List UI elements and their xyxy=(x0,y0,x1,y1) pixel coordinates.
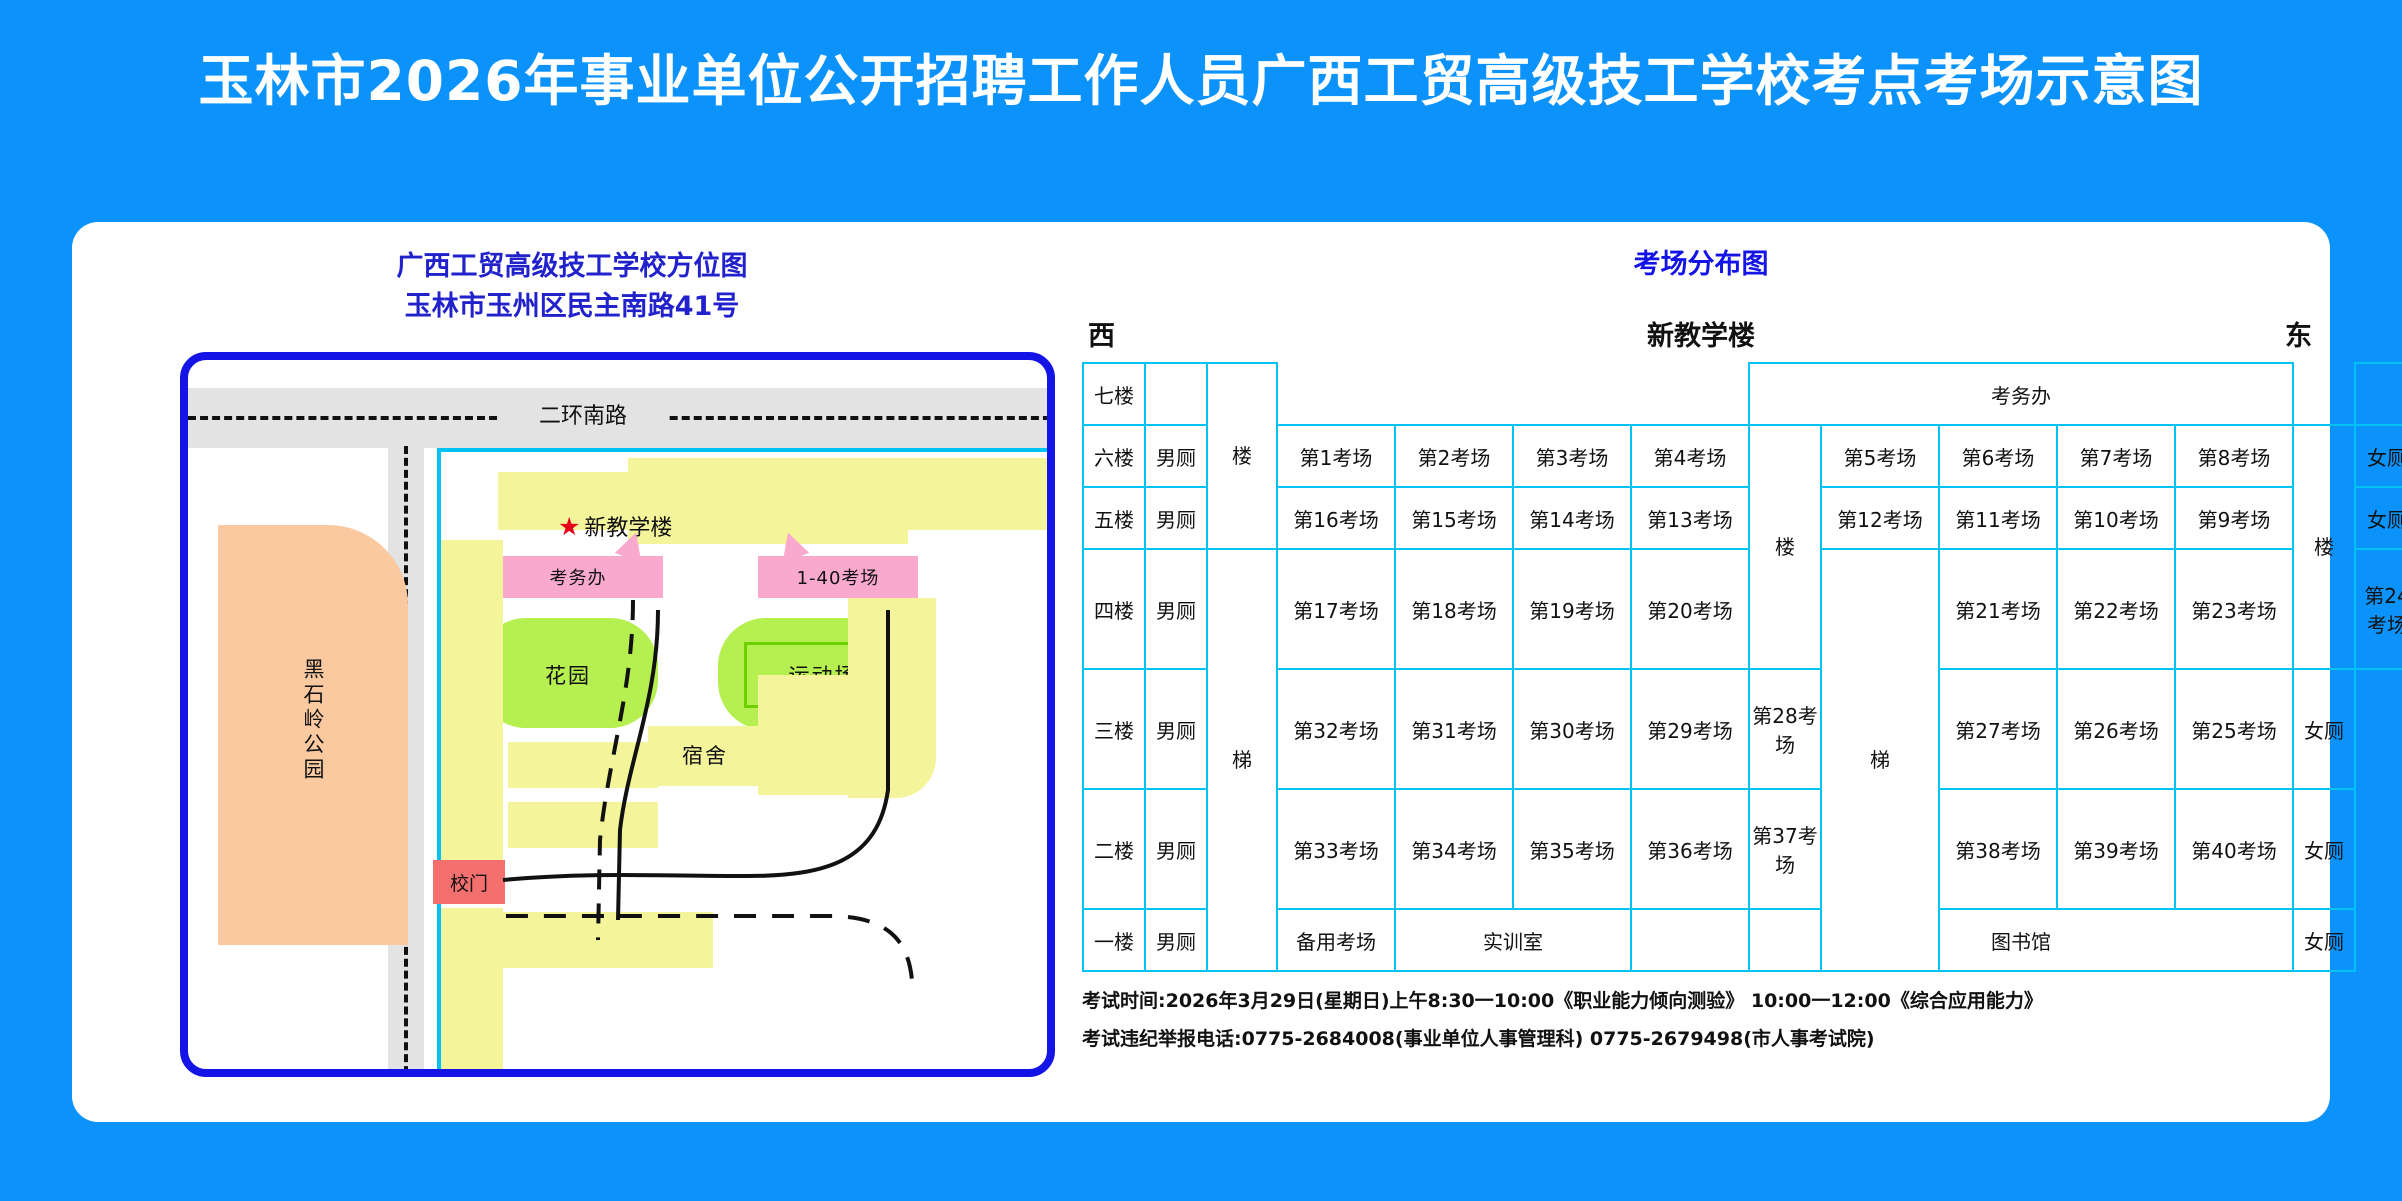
footnotes: 考试时间:2026年3月29日(星期日)上午8:30一10:00《职业能力倾向测… xyxy=(1082,982,2320,1058)
room-cell: 第30考场 xyxy=(1513,669,1631,789)
page-title: 玉林市2026年事业单位公开招聘工作人员广西工贸高级技工学校考点考场示意图 xyxy=(0,48,2402,114)
floor-label: 三楼 xyxy=(1083,669,1145,789)
building-block-c xyxy=(748,458,908,544)
map-canvas: 二环南路 黑石岭公园 ★新教学楼 考务办 1-40考场 xyxy=(188,360,1047,1069)
room-cell: 第29考场 xyxy=(1631,669,1749,789)
floor-label: 四楼 xyxy=(1083,549,1145,669)
room-cell: 第10考场 xyxy=(2057,487,2175,549)
table-row: 一楼 男厕 备用考场 实训室 图书馆 女厕 xyxy=(1083,909,2402,971)
room-cell: 第9考场 xyxy=(2175,487,2293,549)
stair-left-lower: 梯 xyxy=(1207,549,1277,971)
table-row: 七楼 楼 考务办 xyxy=(1083,363,2402,425)
table-row: 六楼 男厕 第1考场 第2考场 第3考场 第4考场 楼 第5考场 第6考场 第7… xyxy=(1083,425,2402,487)
location-map-heading-line1: 广西工贸高级技工学校方位图 xyxy=(72,244,1072,283)
room-cell: 第14考场 xyxy=(1513,487,1631,549)
location-map-heading-line2: 玉林市玉州区民主南路41号 xyxy=(72,284,1072,323)
garden-label: 花园 xyxy=(478,660,658,690)
room-cell: 第34考场 xyxy=(1395,789,1513,909)
toilet-right-cell: 女厕 xyxy=(2293,669,2355,789)
room-cell: 第1考场 xyxy=(1277,425,1395,487)
room-cell: 第22考场 xyxy=(2057,549,2175,669)
room-cell: 第36考场 xyxy=(1631,789,1749,909)
room-cell: 第16考场 xyxy=(1277,487,1395,549)
footnote-report-phone: 考试违纪举报电话:0775-2684008(事业单位人事管理科) 0775-26… xyxy=(1082,1020,2320,1058)
new-teaching-building-marker: ★新教学楼 xyxy=(558,510,672,542)
room-cell: 第23考场 xyxy=(2175,549,2293,669)
toilet-left-cell: 男厕 xyxy=(1145,549,1207,669)
room-cell: 第38考场 xyxy=(1939,789,2057,909)
dorm-label: 宿舍 xyxy=(650,740,760,770)
room-cell: 第11考场 xyxy=(1939,487,2057,549)
floor-label: 二楼 xyxy=(1083,789,1145,909)
dorm-block-c xyxy=(848,598,936,798)
building-block-e xyxy=(441,540,503,870)
toilet-left-cell: 男厕 xyxy=(1145,789,1207,909)
toilet-right-cell: 女厕 xyxy=(2355,487,2402,549)
compass-east: 东 xyxy=(2285,314,2312,353)
room-cell: 第4考场 xyxy=(1631,425,1749,487)
seating-chart-panel: 考场分布图 西 新教学楼 东 七楼 楼 xyxy=(1072,222,2330,1122)
table-row: 二楼 男厕 第33考场 第34考场 第35考场 第36考场 第37考场 第38考… xyxy=(1083,789,2402,909)
toilet-right-cell: 女厕 xyxy=(2355,425,2402,487)
stair-left-upper: 楼 xyxy=(1207,363,1277,549)
toilet-right-cell: 女厕 xyxy=(2293,789,2355,909)
room-cell: 第15考场 xyxy=(1395,487,1513,549)
room-cell: 第5考场 xyxy=(1821,425,1939,487)
toilet-left-cell: 男厕 xyxy=(1145,669,1207,789)
building-block-i xyxy=(503,912,713,968)
footnote-exam-time: 考试时间:2026年3月29日(星期日)上午8:30一10:00《职业能力倾向测… xyxy=(1082,982,2320,1020)
room-grid-wrapper: 七楼 楼 考务办 六楼 男厕 第1考场 第2考场 第3考场 xyxy=(1082,362,2320,972)
room-cell: 第20考场 xyxy=(1631,549,1749,669)
map-frame: 二环南路 黑石岭公园 ★新教学楼 考务办 1-40考场 xyxy=(180,352,1055,1077)
room-cell: 第31考场 xyxy=(1395,669,1513,789)
road-label: 二环南路 xyxy=(498,398,668,430)
room-cell: 第24考场 xyxy=(2355,549,2402,669)
room-grid: 七楼 楼 考务办 六楼 男厕 第1考场 第2考场 第3考场 xyxy=(1082,362,2402,972)
location-map-panel: 广西工贸高级技工学校方位图 玉林市玉州区民主南路41号 二环南路 黑石岭公园 xyxy=(72,222,1072,1122)
library-cell: 图书馆 xyxy=(1749,909,2293,971)
room-cell: 第6考场 xyxy=(1939,425,2057,487)
table-row: 五楼 男厕 第16考场 第15考场 第14考场 第13考场 第12考场 第11考… xyxy=(1083,487,2402,549)
table-row: 四楼 男厕 梯 第17考场 第18考场 第19考场 第20考场 梯 第21考场 … xyxy=(1083,549,2402,669)
room-cell: 第27考场 xyxy=(1939,669,2057,789)
room-cell: 第32考场 xyxy=(1277,669,1395,789)
room-cell: 第18考场 xyxy=(1395,549,1513,669)
room-cell: 第12考场 xyxy=(1821,487,1939,549)
floor-label: 五楼 xyxy=(1083,487,1145,549)
building-block-h xyxy=(508,802,658,848)
room-cell: 第39考场 xyxy=(2057,789,2175,909)
seating-chart-title: 考场分布图 xyxy=(1072,242,2330,281)
training-room-cell: 实训室 xyxy=(1395,909,1631,971)
room-cell: 第13考场 xyxy=(1631,487,1749,549)
building-block-f xyxy=(441,908,503,1077)
stair-right-upper: 楼 xyxy=(2293,425,2355,669)
room-cell: 第2考场 xyxy=(1395,425,1513,487)
room-cell: 第25考场 xyxy=(2175,669,2293,789)
content-card: 广西工贸高级技工学校方位图 玉林市玉州区民主南路41号 二环南路 黑石岭公园 xyxy=(72,222,2330,1122)
table-row: 三楼 男厕 第32考场 第31考场 第30考场 第29考场 第28考场 第27考… xyxy=(1083,669,2402,789)
callout-exam-office: 考务办 xyxy=(493,556,663,598)
room-cell: 第3考场 xyxy=(1513,425,1631,487)
room-cell: 第19考场 xyxy=(1513,549,1631,669)
empty-cell xyxy=(1631,909,1749,971)
park-label: 黑石岭公园 xyxy=(218,620,408,820)
building-block-d xyxy=(908,458,1055,530)
building-name-label: 新教学楼 xyxy=(1072,314,2330,353)
room-cell: 第40考场 xyxy=(2175,789,2293,909)
callout-exam-rooms: 1-40考场 xyxy=(758,556,918,598)
room-cell: 第35考场 xyxy=(1513,789,1631,909)
toilet-right-cell: 女厕 xyxy=(2293,909,2355,971)
empty-cell xyxy=(2293,363,2355,425)
toilet-left-cell: 男厕 xyxy=(1145,425,1207,487)
room-cell: 第28考场 xyxy=(1749,669,1821,789)
room-cell: 第26考场 xyxy=(2057,669,2175,789)
room-cell: 第33考场 xyxy=(1277,789,1395,909)
exam-office-cell: 考务办 xyxy=(1749,363,2293,425)
room-cell: 第8考场 xyxy=(2175,425,2293,487)
room-cell: 第37考场 xyxy=(1749,789,1821,909)
school-gate: 校门 xyxy=(433,860,505,904)
star-icon: ★ xyxy=(558,512,580,541)
stair-center-lower: 梯 xyxy=(1821,549,1939,971)
floor-label: 六楼 xyxy=(1083,425,1145,487)
room-cell: 第21考场 xyxy=(1939,549,2057,669)
toilet-left-cell xyxy=(1145,363,1207,425)
toilet-right-cell xyxy=(2355,363,2402,425)
empty-cell xyxy=(1277,363,1749,425)
stair-center-upper: 楼 xyxy=(1749,425,1821,669)
room-cell: 第17考场 xyxy=(1277,549,1395,669)
floor-label: 七楼 xyxy=(1083,363,1145,425)
building-block-g xyxy=(508,742,658,788)
room-cell: 备用考场 xyxy=(1277,909,1395,971)
toilet-left-cell: 男厕 xyxy=(1145,909,1207,971)
room-cell: 第7考场 xyxy=(2057,425,2175,487)
floor-label: 一楼 xyxy=(1083,909,1145,971)
toilet-left-cell: 男厕 xyxy=(1145,487,1207,549)
